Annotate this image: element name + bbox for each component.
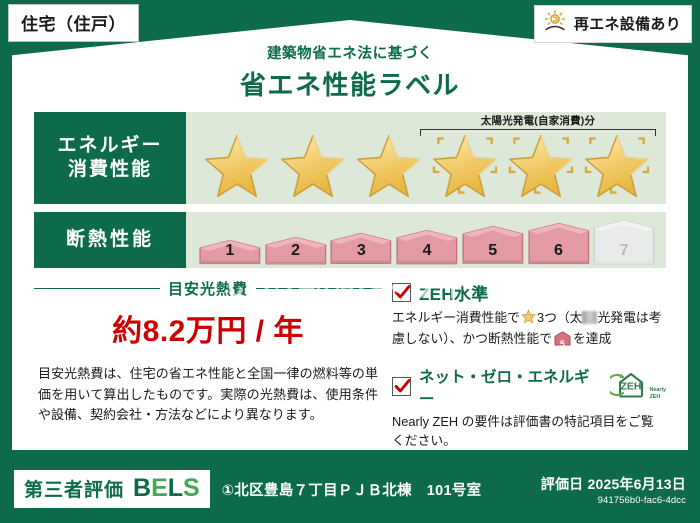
zeh-house-logo: ZEH Nearly ZEH — [610, 371, 666, 403]
insulation-level-6: 6 — [527, 222, 591, 265]
bels-certification-mark: 第三者評価 BELS — [14, 470, 210, 508]
level-number: 1 — [198, 242, 262, 260]
star-icon — [276, 126, 350, 200]
insulation-level-7: 7 — [592, 219, 656, 265]
title-block: 建築物省エネ法に基づく 省エネ性能ラベル — [0, 42, 700, 102]
evaluation-date-block: 評価日 2025年6月13日 941756b0-fac6-4dcc — [541, 474, 686, 506]
zeh-standard-header: ZEH水準 — [392, 280, 666, 305]
star-icon — [580, 126, 654, 200]
insulation-performance-label-box: 断熱性能 — [34, 212, 186, 268]
insulation-scale-panel: 1 2 3 4 5 — [186, 212, 666, 268]
insulation-level-2: 2 — [264, 236, 328, 265]
energy-label-line1: エネルギー — [57, 134, 162, 158]
insulation-level-4: 4 — [395, 229, 459, 265]
solar-sun-icon — [543, 10, 567, 37]
insulation-level-scale: 1 2 3 4 5 — [198, 219, 656, 265]
star-rating — [186, 126, 666, 204]
evaluation-date-value: 2025年6月13日 — [587, 476, 686, 492]
page-title: 省エネ性能ラベル — [0, 65, 700, 102]
zeh-logo-sub: Nearly ZEH — [650, 387, 666, 402]
red-check-icon — [392, 377, 411, 396]
bels-letter-l: L — [168, 474, 183, 502]
star-icon — [504, 126, 578, 200]
bels-logo: BELS — [133, 474, 200, 503]
utility-cost-amount: 約8.2万円 / 年 — [34, 306, 382, 350]
red-check-icon — [392, 283, 411, 302]
document-id: 941756b0-fac6-4dcc — [541, 495, 686, 506]
energy-performance-row: エネルギー 消費性能 太陽光発電(自家消費)分 — [34, 112, 666, 204]
utility-cost-heading: 目安光熱費 — [34, 278, 382, 299]
inline-level-number: 5 — [554, 338, 571, 352]
blurred-character — [582, 311, 597, 324]
insulation-label-text: 断熱性能 — [66, 228, 154, 252]
zeh-body-part4: を達成 — [573, 331, 611, 346]
certification-block: ZEH水準 エネルギー消費性能で3つ（太光発電は考慮しない）、かつ断熱性能で5を… — [392, 278, 666, 451]
zeh-standard-title: ZEH水準 — [419, 280, 489, 305]
dwelling-type-tag: 住宅（住戸） — [8, 4, 139, 42]
insulation-level-5: 5 — [461, 225, 525, 265]
level-number: 5 — [461, 242, 525, 260]
inline-star-icon — [521, 312, 536, 327]
energy-star-panel: 太陽光発電(自家消費)分 — [186, 112, 666, 204]
insulation-level-3: 3 — [329, 232, 393, 265]
insulation-performance-row: 断熱性能 1 2 3 — [34, 212, 666, 268]
net-zero-header: ネット・ゼロ・エネルギー ZEH — [392, 365, 666, 409]
main-content: エネルギー 消費性能 太陽光発電(自家消費)分 — [22, 106, 678, 446]
evaluation-date-label: 評価日 — [541, 476, 584, 492]
zeh-body-part2: 3つ（太 — [537, 310, 583, 325]
level-number: 7 — [592, 242, 656, 260]
star-icon — [428, 126, 502, 200]
third-party-evaluation-label: 第三者評価 — [24, 475, 124, 502]
level-number: 2 — [264, 242, 328, 260]
zeh-logo-mark: ZEH — [610, 371, 648, 403]
inline-insulation-level-icon: 5 — [554, 331, 571, 351]
energy-label-line2: 消費性能 — [68, 158, 152, 182]
heading-rule-left — [34, 288, 160, 290]
renewable-badge-label: 再エネ設備あり — [574, 13, 681, 34]
evaluation-date-line: 評価日 2025年6月13日 — [541, 474, 686, 494]
utility-cost-heading-text: 目安光熱費 — [168, 278, 248, 299]
insulation-level-1: 1 — [198, 239, 262, 265]
star-icon — [200, 126, 274, 200]
zeh-standard-body: エネルギー消費性能で3つ（太光発電は考慮しない）、かつ断熱性能で5を達成 — [392, 308, 666, 352]
net-zero-title: ネット・ゼロ・エネルギー — [419, 365, 597, 409]
zeh-standard-item: ZEH水準 エネルギー消費性能で3つ（太光発電は考慮しない）、かつ断熱性能で5を… — [392, 280, 666, 352]
title-subtitle: 建築物省エネ法に基づく — [0, 42, 700, 63]
lower-section: 目安光熱費 約8.2万円 / 年 目安光熱費は、住宅の省エネ性能と全国一律の燃料… — [34, 278, 666, 451]
level-number: 6 — [527, 242, 591, 260]
property-address: ①北区豊島７丁目ＰＪＢ北棟 101号室 — [222, 479, 482, 500]
net-zero-energy-item: ネット・ゼロ・エネルギー ZEH — [392, 365, 666, 451]
bels-letter-b: B — [133, 474, 151, 502]
star-icon — [352, 126, 426, 200]
utility-cost-block: 目安光熱費 約8.2万円 / 年 目安光熱費は、住宅の省エネ性能と全国一律の燃料… — [34, 278, 382, 451]
bels-letter-e: E — [151, 474, 168, 502]
level-number: 3 — [329, 242, 393, 260]
renewable-equipment-badge: 再エネ設備あり — [534, 5, 692, 43]
zeh-logo-sub-line2: ZEH — [650, 394, 661, 400]
bels-letter-s: S — [183, 474, 200, 502]
net-zero-body: Nearly ZEH の要件は評価書の特記項目をご覧ください。 — [392, 412, 666, 451]
heading-rule-right — [256, 288, 382, 290]
energy-performance-label-box: エネルギー 消費性能 — [34, 112, 186, 204]
utility-cost-note: 目安光熱費は、住宅の省エネ性能と全国一律の燃料等の単価を用いて算出したものです。… — [34, 364, 382, 426]
zeh-logo-sub-line1: Nearly — [650, 387, 666, 393]
zeh-logo-text: ZEH — [620, 380, 641, 392]
footer-bar: 第三者評価 BELS ①北区豊島７丁目ＰＪＢ北棟 101号室 評価日 2025年… — [0, 459, 700, 523]
energy-performance-label: 住宅（住戸） 再エネ設備あり 建築物省エネ法に基づく — [0, 0, 700, 523]
zeh-body-part1: エネルギー消費性能で — [392, 310, 520, 325]
level-number: 4 — [395, 242, 459, 260]
